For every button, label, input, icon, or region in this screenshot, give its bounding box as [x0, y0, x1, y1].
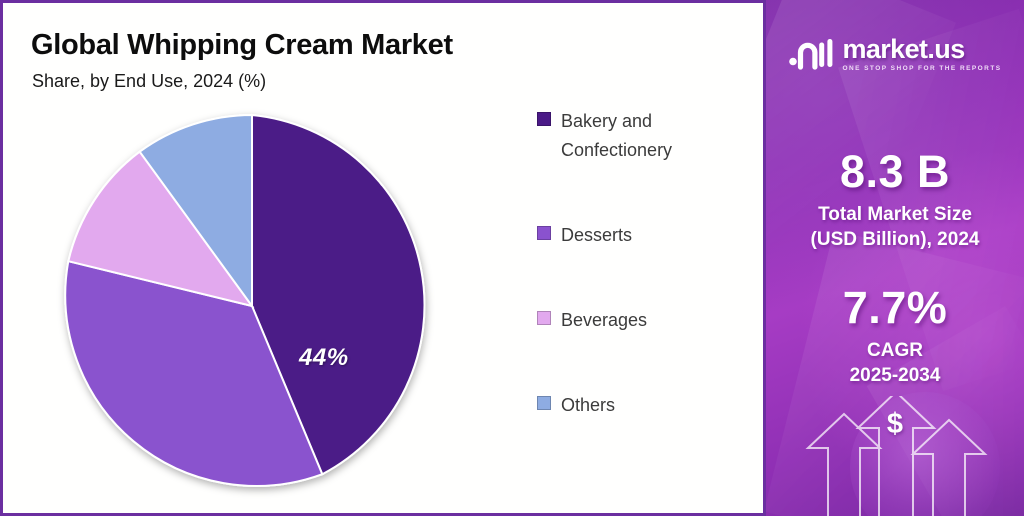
- stats-panel: market.us ONE STOP SHOP FOR THE REPORTS …: [766, 0, 1024, 516]
- brand-logo[interactable]: market.us ONE STOP SHOP FOR THE REPORTS: [766, 34, 1024, 72]
- legend-swatch-icon: [537, 396, 551, 410]
- pie-chart: 44%: [61, 115, 443, 497]
- brand-tagline: ONE STOP SHOP FOR THE REPORTS: [842, 65, 1001, 72]
- market-size-caption-line-2: (USD Billion), 2024: [766, 227, 1024, 252]
- legend-item-beverages[interactable]: Beverages: [537, 306, 762, 335]
- cagr-value: 7.7%: [766, 282, 1024, 334]
- chart-panel: Global Whipping Cream Market Share, by E…: [0, 0, 766, 516]
- market-us-logo-icon: [788, 36, 834, 70]
- brand-name: market.us: [842, 36, 1001, 63]
- legend-item-desserts[interactable]: Desserts: [537, 221, 762, 250]
- cagr-caption-line-1: CAGR: [766, 338, 1024, 363]
- cagr-caption-line-2: 2025-2034: [766, 363, 1024, 388]
- legend-item-label: Others: [561, 391, 615, 420]
- legend-swatch-icon: [537, 112, 551, 126]
- legend-item-others[interactable]: Others: [537, 391, 762, 420]
- legend-item-label: Bakery and Confectionery: [561, 107, 741, 165]
- brand-text-block: market.us ONE STOP SHOP FOR THE REPORTS: [842, 34, 1001, 72]
- cagr-caption: CAGR 2025-2034: [766, 338, 1024, 388]
- legend-item-bakery-and-confectionery[interactable]: Bakery and Confectionery: [537, 107, 762, 165]
- chart-legend: Bakery and Confectionery Desserts Bevera…: [537, 107, 762, 476]
- market-size-caption-line-1: Total Market Size: [766, 202, 1024, 227]
- infographic-root: Global Whipping Cream Market Share, by E…: [0, 0, 1024, 516]
- legend-item-label: Beverages: [561, 306, 647, 335]
- market-size-caption: Total Market Size (USD Billion), 2024: [766, 202, 1024, 252]
- chart-subtitle: Share, by End Use, 2024 (%): [32, 71, 266, 92]
- dollar-sign-icon: $: [766, 408, 1024, 441]
- legend-swatch-icon: [537, 311, 551, 325]
- pie-slice-value-label: 44%: [299, 344, 349, 372]
- legend-item-label: Desserts: [561, 221, 632, 250]
- page-title: Global Whipping Cream Market: [31, 29, 453, 62]
- market-size-value: 8.3 B: [766, 146, 1024, 198]
- legend-swatch-icon: [537, 226, 551, 240]
- pie-chart-svg: [61, 115, 443, 497]
